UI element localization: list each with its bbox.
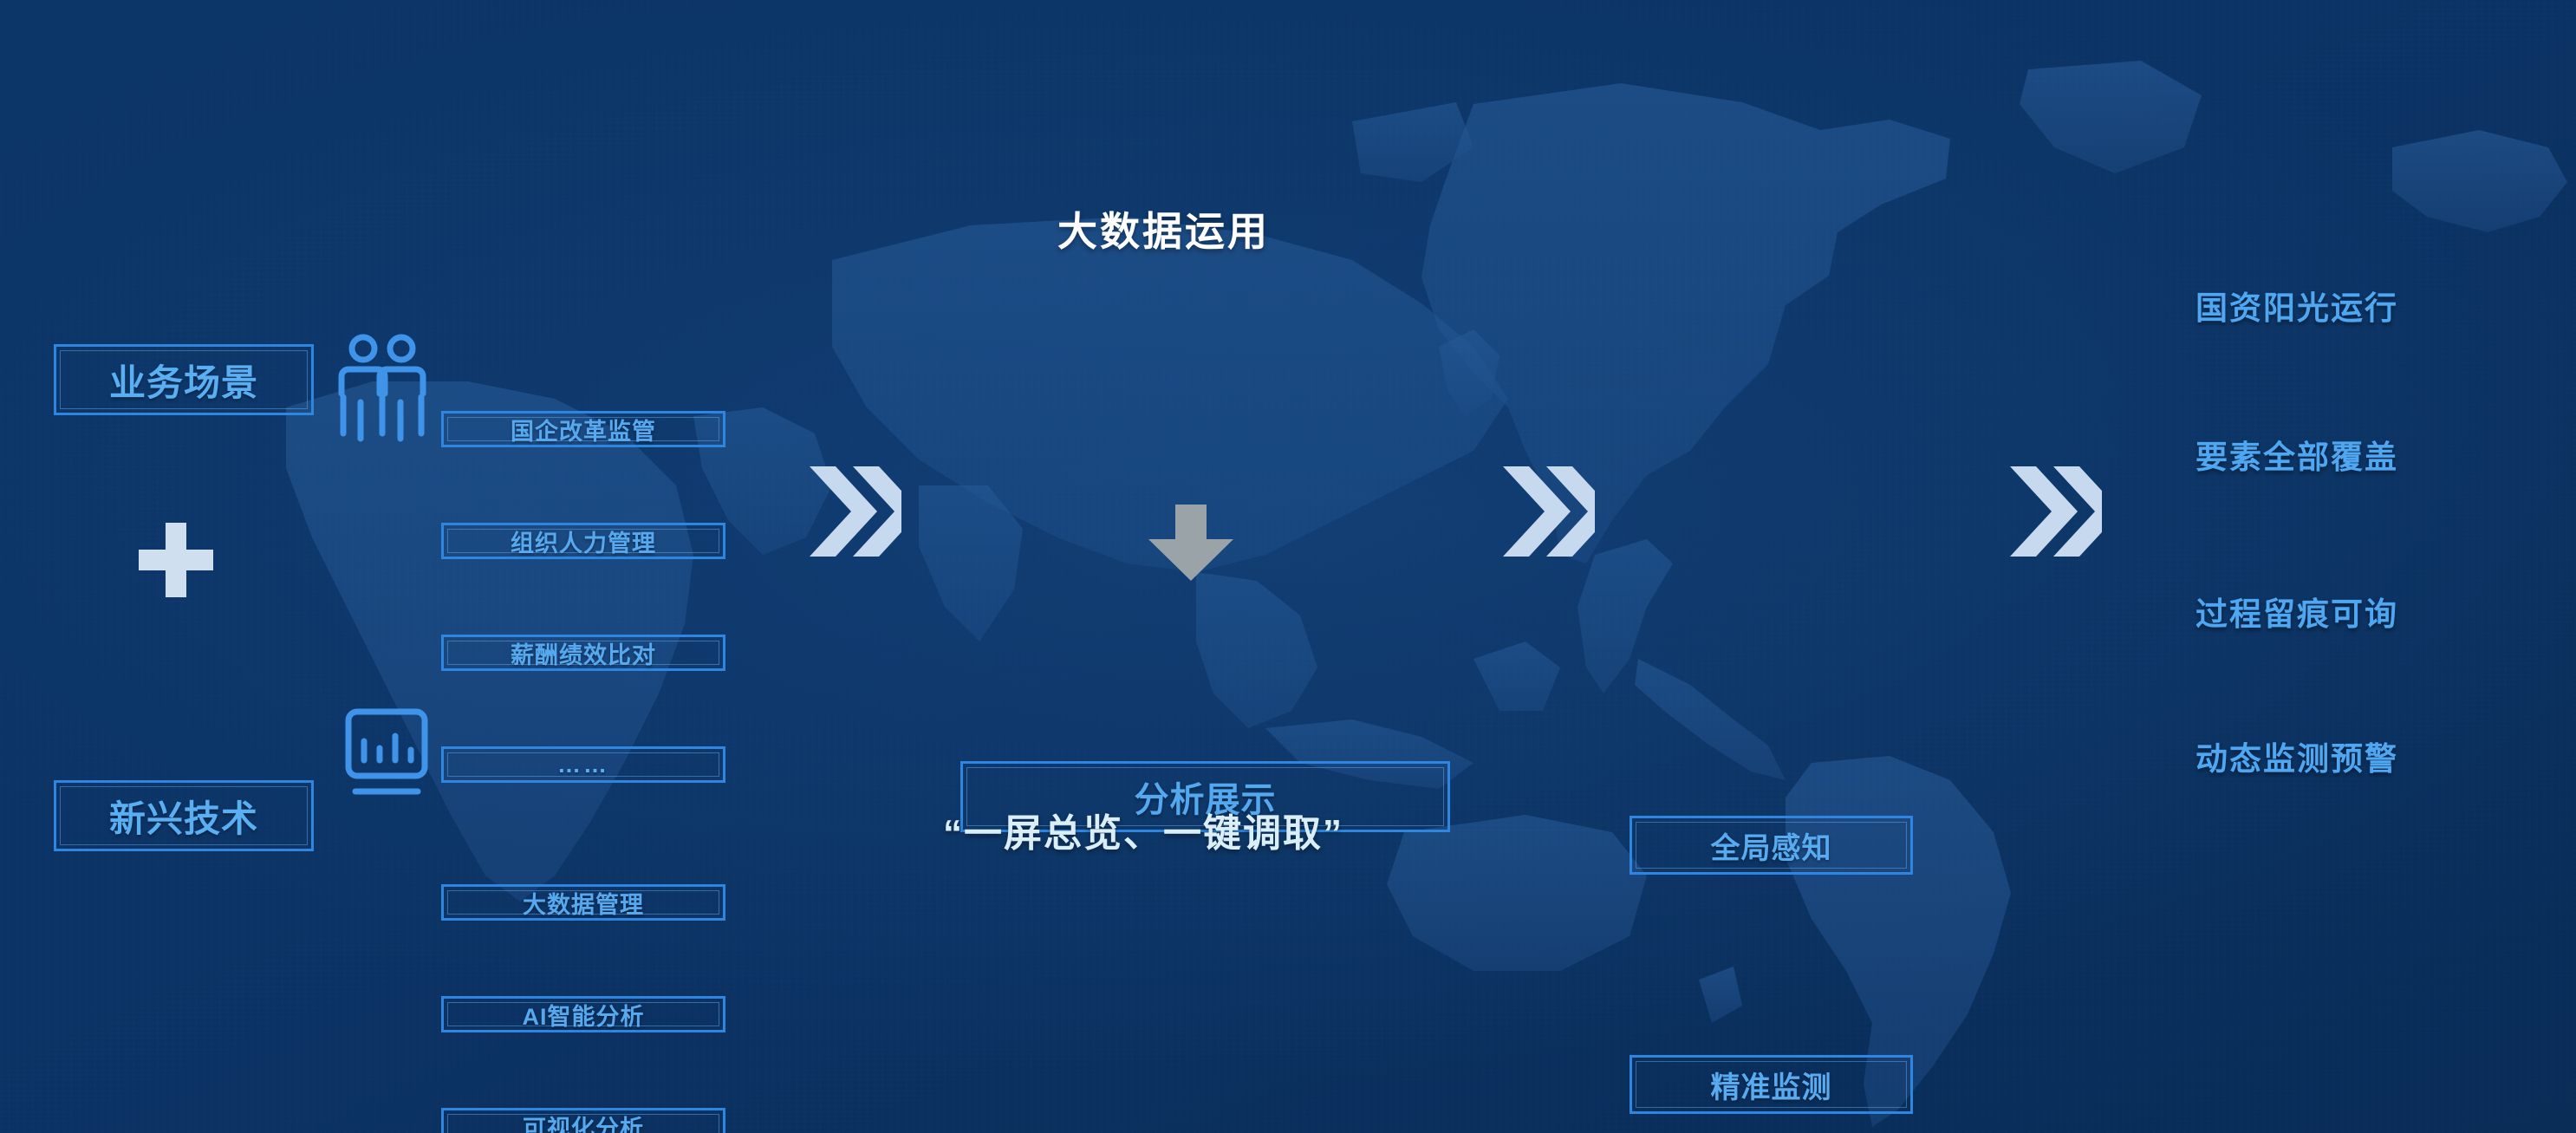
scenario-box-label: 业务场景 bbox=[109, 354, 258, 407]
scenario-item-label: 国企改革监管 bbox=[511, 413, 656, 446]
list-item[interactable]: 大数据管理 bbox=[441, 884, 725, 921]
down-arrow-icon bbox=[1147, 503, 1235, 587]
page-title: 大数据运用 bbox=[1057, 200, 1270, 257]
technology-item-label: AI智能分析 bbox=[523, 998, 645, 1032]
chevron-stage-3 bbox=[2007, 459, 2102, 568]
capability-box[interactable]: 全局感知 bbox=[1630, 816, 1913, 875]
technology-box-label: 新兴技术 bbox=[109, 790, 258, 843]
scenario-item-label: 组织人力管理 bbox=[511, 524, 656, 558]
chevron-stage-1 bbox=[806, 459, 901, 568]
scenario-item-label: 薪酬绩效比对 bbox=[511, 636, 656, 670]
technology-box[interactable]: 新兴技术 bbox=[54, 780, 314, 851]
capability-label: 全局感知 bbox=[1711, 824, 1832, 867]
technology-item-label: 可视化分析 bbox=[523, 1110, 644, 1133]
scenario-item-label: …… bbox=[557, 752, 609, 778]
list-item[interactable]: 薪酬绩效比对 bbox=[441, 635, 725, 671]
scenario-box[interactable]: 业务场景 bbox=[54, 344, 314, 415]
slogan-caption: “一屏总览、一键调取” bbox=[943, 802, 1343, 857]
list-item[interactable]: 可视化分析 bbox=[441, 1108, 725, 1133]
capability-box[interactable]: 精准监测 bbox=[1630, 1055, 1913, 1114]
outcome-text: 动态监测预警 bbox=[2195, 733, 2398, 779]
list-item[interactable]: 组织人力管理 bbox=[441, 523, 725, 559]
list-item[interactable]: 国企改革监管 bbox=[441, 411, 725, 447]
dashboard-chart-icon bbox=[343, 706, 430, 809]
capability-label: 精准监测 bbox=[1711, 1064, 1832, 1106]
technology-item-label: 大数据管理 bbox=[523, 886, 644, 920]
outcome-text: 过程留痕可询 bbox=[2195, 588, 2398, 635]
plus-symbol bbox=[139, 523, 213, 597]
chevron-stage-2 bbox=[1499, 459, 1595, 568]
list-item[interactable]: AI智能分析 bbox=[441, 996, 725, 1032]
outcome-text: 国资阳光运行 bbox=[2195, 282, 2398, 329]
list-item[interactable]: …… bbox=[441, 746, 725, 783]
outcome-text: 要素全部覆盖 bbox=[2195, 431, 2398, 478]
people-icon bbox=[335, 331, 430, 444]
